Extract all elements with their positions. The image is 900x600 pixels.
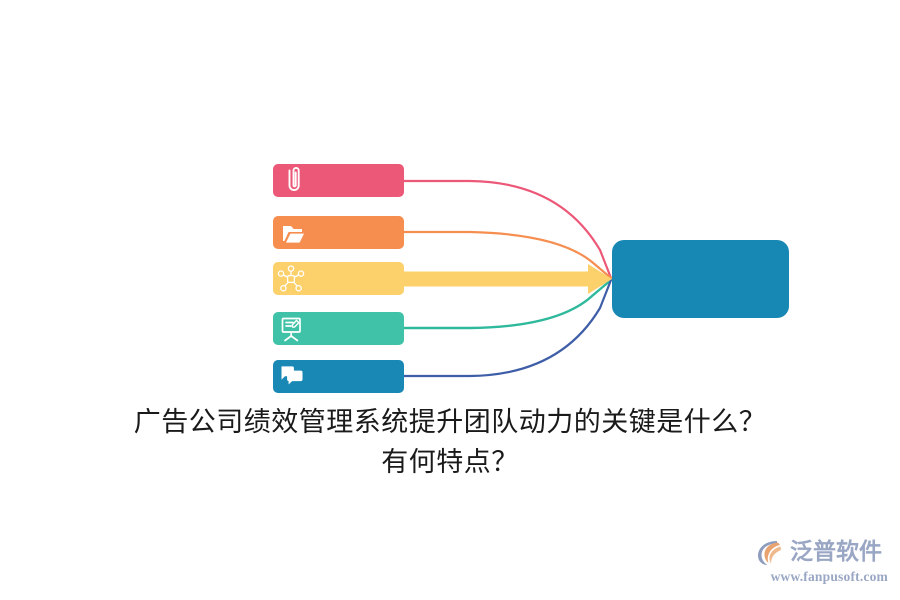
connector-network-hub-arrow: [398, 264, 612, 294]
target-node-box[interactable]: [612, 240, 789, 318]
item-open-folder-bar[interactable]: [273, 216, 404, 249]
converging-funnel-diagram: [0, 0, 900, 600]
connector-paperclip: [398, 181, 611, 278]
item-paperclip[interactable]: [273, 164, 404, 197]
fanpu-logo-icon: [756, 537, 786, 567]
item-presentation-board-bar[interactable]: [273, 312, 404, 345]
watermark-brand-name: 泛普软件: [790, 537, 882, 567]
target-node[interactable]: [612, 240, 789, 318]
connector-presentation-board: [398, 280, 611, 328]
watermark-brand-row: 泛普软件: [756, 536, 888, 568]
item-open-folder[interactable]: [273, 216, 404, 249]
watermark-url: www.fanpusoft.com: [756, 569, 888, 585]
watermark-logo: 泛普软件 www.fanpusoft.com: [756, 536, 888, 588]
connector-open-folder: [398, 232, 611, 278]
caption-text: 广告公司绩效管理系统提升团队动力的关键是什么？ 有何特点？: [0, 402, 900, 482]
item-presentation-board[interactable]: [273, 312, 404, 345]
item-network-hub[interactable]: [273, 262, 404, 295]
item-chat-bubbles[interactable]: [273, 360, 404, 393]
page-canvas: 广告公司绩效管理系统提升团队动力的关键是什么？ 有何特点？ 泛普软件 www.f…: [0, 0, 900, 600]
